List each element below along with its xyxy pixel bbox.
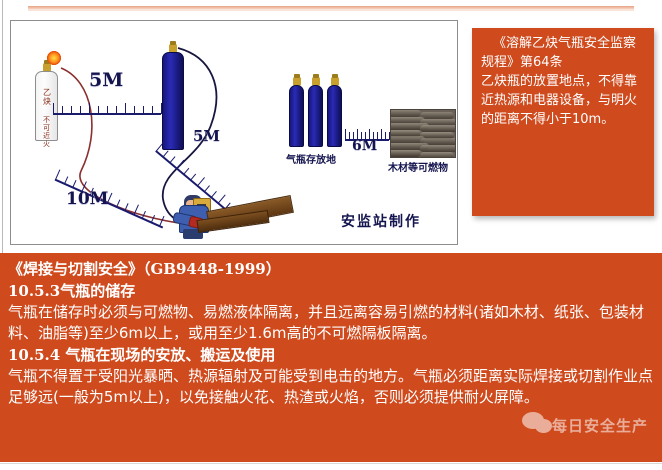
log — [390, 110, 421, 117]
ruler-tick — [349, 132, 350, 140]
maker-credit: 安监站制作 — [341, 211, 421, 231]
section-1054-text: 气瓶不得置于受阳光暴晒、热源辐射及可能受到电击的地方。气瓶必须距离实际焊接或切割… — [8, 366, 656, 408]
wechat-icon — [522, 412, 552, 434]
ruler-tick — [183, 168, 189, 175]
section-1053-heading: 10.5.3气瓶的储存 — [8, 280, 656, 302]
log — [420, 152, 454, 158]
ruler-tick — [125, 103, 126, 114]
ruler-tick — [80, 106, 81, 114]
acetylene-warning-label: 乙炔 不可近火 — [42, 88, 52, 148]
ruler-tick — [116, 106, 117, 114]
section-1053-text: 气瓶在储存时必须与可燃物、易燃液体隔离，并且远离容易引燃的材料(诸如木材、纸张、… — [8, 302, 656, 344]
storage-cylinder-2 — [308, 77, 323, 147]
ruler-tick — [161, 103, 162, 114]
cylinder-body — [308, 85, 323, 147]
storage-cylinder-3 — [327, 77, 342, 147]
ruler-tick — [134, 106, 135, 114]
ruler-tick — [98, 106, 99, 114]
oxygen-cylinder — [162, 44, 184, 150]
ruler-tick — [190, 174, 196, 181]
top-divider-soft — [28, 9, 634, 11]
ruler-tick — [385, 132, 386, 140]
standard-title: 《焊接与切割安全》（GB9448-1999） — [8, 259, 656, 280]
distance-label-5m-right: 5M — [193, 127, 220, 145]
weld-spark-icon — [47, 51, 61, 65]
ruler-tick — [107, 106, 108, 114]
ruler-tick — [62, 106, 63, 114]
ruler-tick — [53, 103, 54, 114]
ruler-tick — [89, 103, 90, 114]
cylinder-body — [327, 85, 342, 147]
ruler-tick — [197, 177, 205, 186]
ruler-tick — [152, 106, 153, 114]
ruler-tick — [143, 106, 144, 114]
page-root: 乙炔 不可近火 5M 10M 5M — [0, 0, 662, 470]
callout-title: 《溶解乙炔气瓶安全监察规程》第64条 — [481, 34, 647, 72]
distance-label-10m: 10M — [66, 189, 108, 209]
ruler-tick — [176, 160, 184, 169]
ruler-tick — [133, 204, 139, 215]
ruler-tick — [345, 129, 346, 140]
watermark-text: 每日安全生产 — [552, 415, 648, 436]
log — [420, 145, 456, 152]
ruler-tick — [170, 156, 176, 163]
distance-label-6m: 6M — [352, 138, 377, 154]
ruler-tick — [163, 150, 169, 157]
illustration-panel: 乙炔 不可近火 5M 10M 5M — [10, 20, 458, 245]
woodpile-photo — [390, 109, 456, 158]
regulation-callout: 《溶解乙炔气瓶安全监察规程》第64条 乙炔瓶的放置地点，不得靠近热源和电器设备，… — [472, 28, 654, 216]
distance-label-5m-top: 5M — [89, 69, 123, 91]
acetylene-cylinder: 乙炔 不可近火 — [35, 63, 58, 141]
section-1054-heading: 10.5.4 气瓶在现场的安放、搬运及使用 — [8, 344, 656, 366]
cylinder-body — [162, 52, 184, 150]
storage-cylinder-1 — [289, 77, 304, 147]
ruler-tick — [381, 129, 382, 140]
log — [420, 112, 454, 119]
ruler-tick — [159, 216, 165, 227]
combustibles-label: 木材等可燃物 — [388, 159, 448, 174]
bottom-hairline — [0, 463, 662, 464]
cylinder-body — [289, 85, 304, 147]
illustration-canvas: 乙炔 不可近火 5M 10M 5M — [11, 21, 457, 244]
left-hairline — [2, 0, 3, 253]
log — [390, 150, 421, 157]
callout-text: 乙炔瓶的放置地点，不得靠近热源和电器设备，与明火的距离不得小于10m。 — [481, 72, 647, 129]
ruler-5m-top — [53, 103, 161, 115]
watermark: 每日安全生产 — [522, 408, 654, 442]
storage-area-label: 气瓶存放地 — [286, 151, 336, 166]
ruler-tick — [71, 106, 72, 114]
